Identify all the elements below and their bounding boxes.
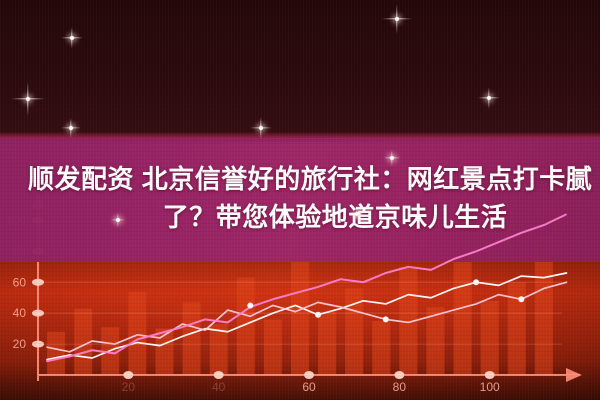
banner-image: 2040608010020406080100 顺发配资 北京信誉好的旅行社：网红… xyxy=(0,0,600,400)
chart-series-foreground xyxy=(47,214,566,361)
chart-line-line-magenta-overlay xyxy=(47,214,566,361)
headline: 顺发配资 北京信誉好的旅行社：网红景点打卡腻 了？带您体验地道京味儿生活 xyxy=(0,160,600,236)
headline-line-1: 顺发配资 北京信誉好的旅行社：网红景点打卡腻 xyxy=(16,160,584,198)
headline-line-2: 了？带您体验地道京味儿生活 xyxy=(16,198,584,236)
